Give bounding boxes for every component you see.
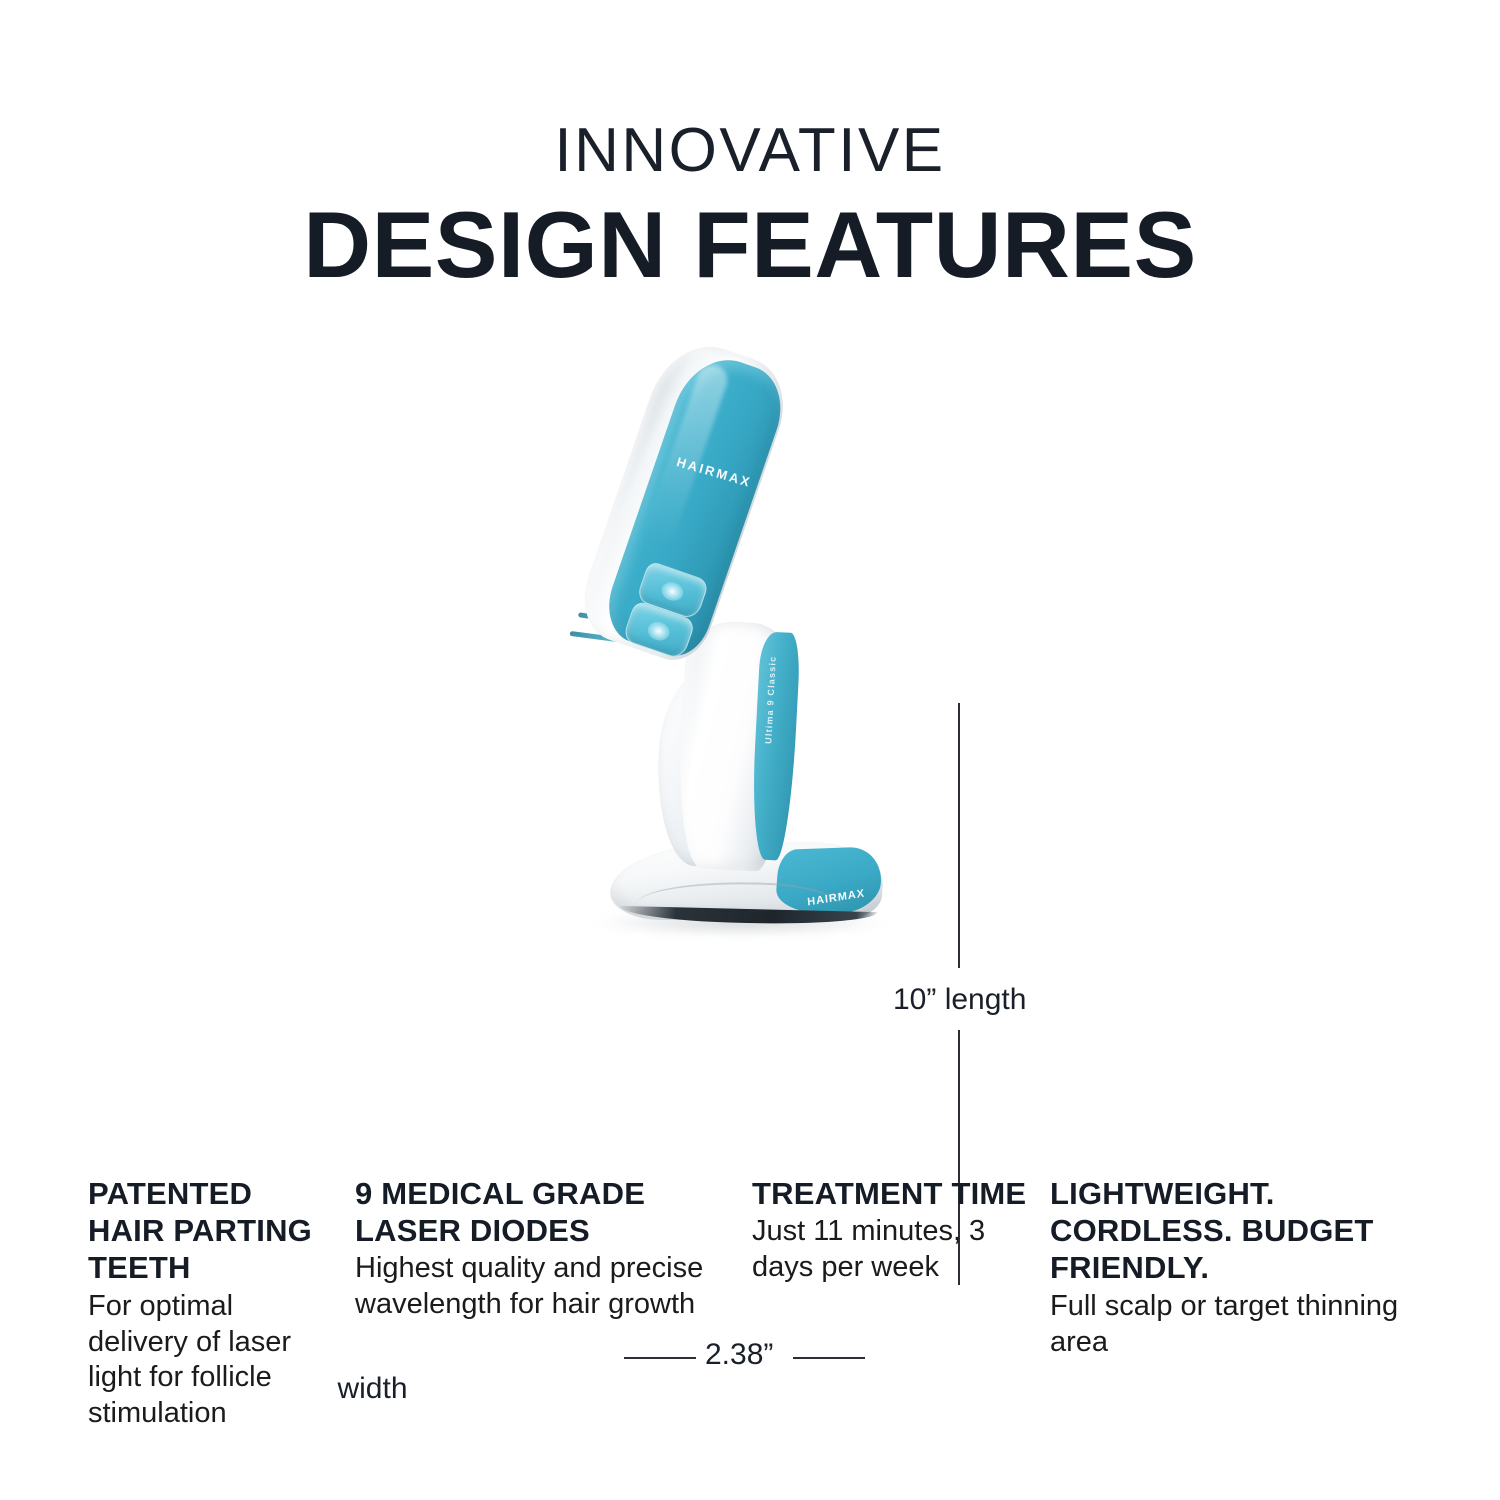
- kicker-text: INNOVATIVE: [0, 120, 1500, 182]
- feature-body: Highest quality and precise wavelength f…: [355, 1251, 728, 1323]
- feature-column-patented-teeth: PATENTED HAIR PARTING TEETH For optimal …: [0, 1175, 355, 1432]
- heading-block: INNOVATIVE DESIGN FEATURES: [0, 120, 1500, 295]
- feature-body: Just 11 minutes, 3 days per week: [752, 1214, 1030, 1286]
- power-button-glow: [659, 579, 686, 603]
- length-dimension-line-top: [958, 703, 960, 968]
- mode-button-glow: [645, 619, 672, 643]
- feature-title: TREATMENT TIME: [752, 1175, 1030, 1212]
- feature-column-treatment-time: TREATMENT TIME Just 11 minutes, 3 days p…: [752, 1175, 1050, 1432]
- feature-title: 9 MEDICAL GRADE LASER DIODES: [355, 1175, 728, 1249]
- product-head: HAIRMAX: [569, 332, 877, 705]
- feature-body: For optimal delivery of laser light for …: [88, 1289, 331, 1433]
- feature-column-lightweight-cordless: LIGHTWEIGHT. CORDLESS. BUDGET FRIENDLY. …: [1050, 1175, 1500, 1432]
- product-stage: HAIRMAX Ultima 9 Classic: [0, 330, 1500, 1090]
- feature-title: PATENTED HAIR PARTING TEETH: [88, 1175, 331, 1287]
- length-dimension-label: 10” length: [893, 983, 1026, 1017]
- page-title: DESIGN FEATURES: [0, 196, 1500, 295]
- feature-columns: PATENTED HAIR PARTING TEETH For optimal …: [0, 1175, 1500, 1432]
- product-image-hairmax-laser-comb: HAIRMAX Ultima 9 Classic: [555, 350, 915, 970]
- feature-title: LIGHTWEIGHT. CORDLESS. BUDGET FRIENDLY.: [1050, 1175, 1460, 1287]
- feature-body: Full scalp or target thinning area: [1050, 1289, 1460, 1361]
- design-features-page: INNOVATIVE DESIGN FEATURES HAIRMAX: [0, 0, 1500, 1500]
- feature-column-laser-diodes: 9 MEDICAL GRADE LASER DIODES Highest qua…: [355, 1175, 752, 1432]
